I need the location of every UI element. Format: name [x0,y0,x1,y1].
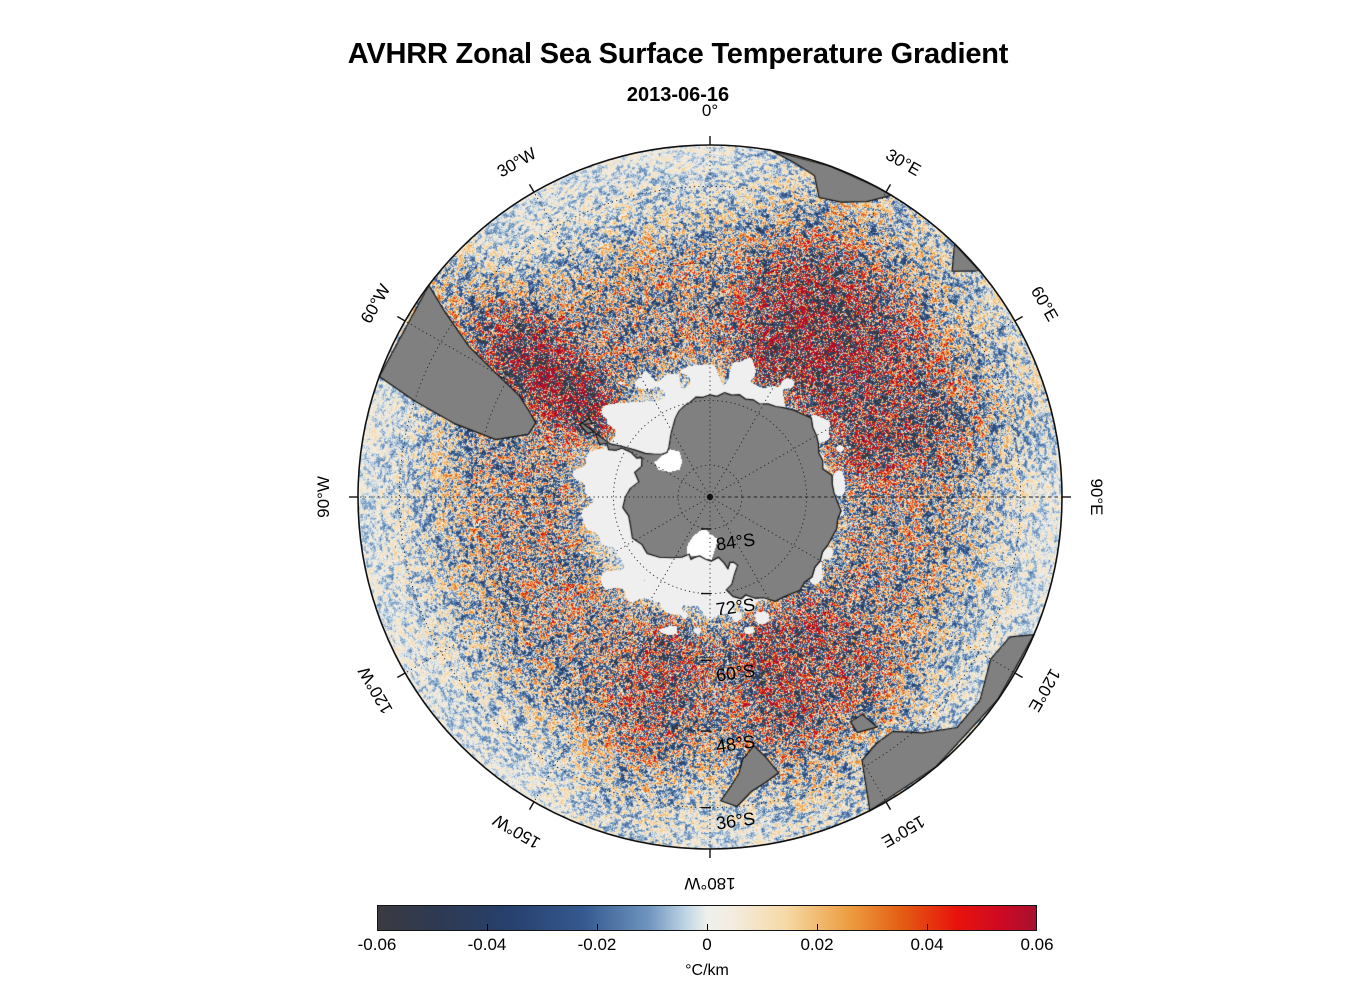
longitude-tick [530,184,535,192]
polar-map [330,120,1090,880]
colorbar-tick-label: -0.06 [332,935,422,955]
longitude-tick [530,802,535,810]
colorbar-tick-label: 0.06 [992,935,1082,955]
longitude-gridline [713,192,886,492]
longitude-tick [397,673,405,678]
colorbar-tick [597,924,598,931]
page-subtitle: 2013-06-16 [0,84,1356,107]
longitude-tick [1015,673,1023,678]
page-title: AVHRR Zonal Sea Surface Temperature Grad… [0,38,1356,71]
colorbar-tick [707,924,708,931]
map-graticule-overlay [330,120,1090,880]
south-pole-marker [707,494,713,500]
colorbar-tick-label: 0.02 [772,935,862,955]
colorbar: -0.06-0.04-0.0200.020.040.06 [377,905,1037,931]
longitude-gridline [715,500,1015,673]
colorbar-tick [927,924,928,931]
longitude-gridline [405,321,705,494]
colorbar-tick-label: 0.04 [882,935,972,955]
colorbar-tick-label: -0.02 [552,935,642,955]
longitude-tick [886,802,891,810]
longitude-tick [886,184,891,192]
colorbar-units-label: °C/km [377,962,1037,980]
longitude-gridline [534,502,707,802]
longitude-tick [1015,317,1023,322]
longitude-gridline [405,500,705,673]
longitude-tick [397,317,405,322]
longitude-gridline [534,192,707,492]
colorbar-tick-label: -0.04 [442,935,532,955]
longitude-label: 180°W [684,873,735,893]
colorbar-tick-label: 0 [662,935,752,955]
longitude-label: 0° [702,101,718,121]
colorbar-tick [817,924,818,931]
longitude-label: 90°W [314,476,334,518]
longitude-label: 90°E [1086,478,1106,515]
longitude-gridline [715,321,1015,494]
figure-panel: AVHRR Zonal Sea Surface Temperature Grad… [0,0,1356,1000]
colorbar-tick [487,924,488,931]
